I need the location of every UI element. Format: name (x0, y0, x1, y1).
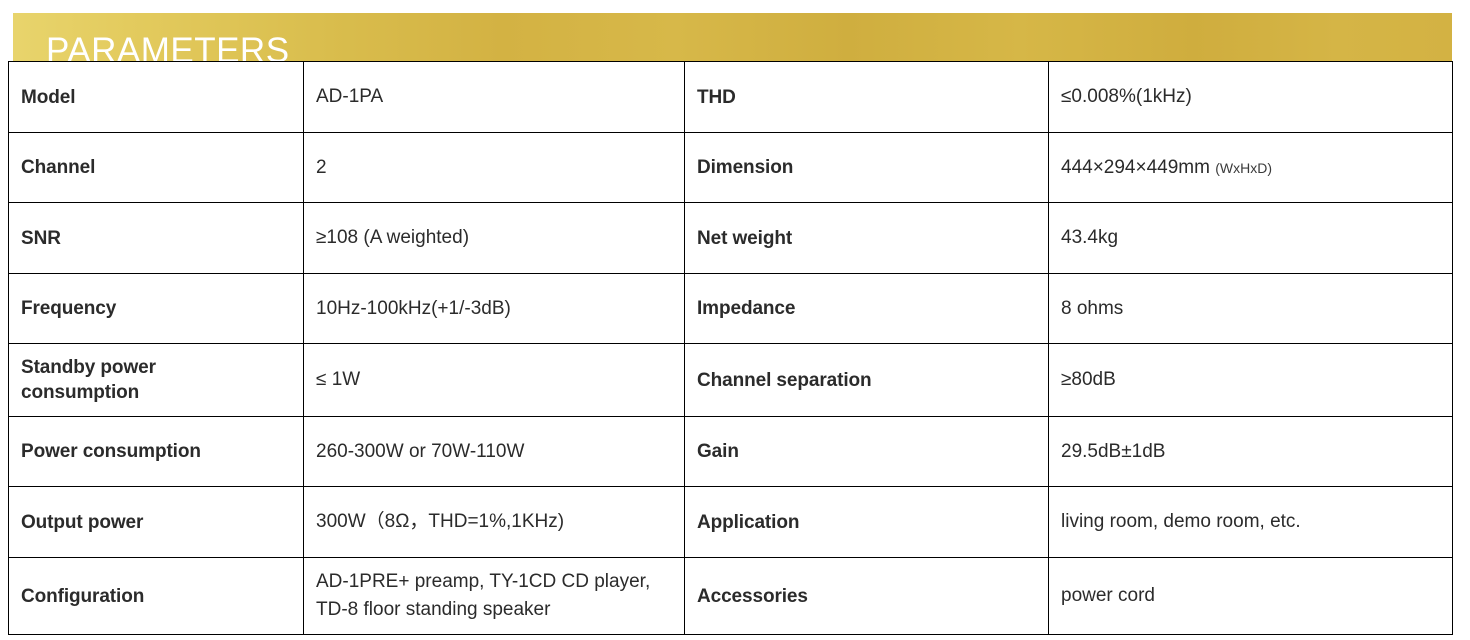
dimension-suffix: (WxHxD) (1215, 160, 1272, 176)
row-label-power-consumption: Power consumption (9, 417, 304, 487)
parameters-page: PARAMETERS Model AD-1PA THD ≤0.008%(1kHz… (0, 0, 1470, 640)
row-value-channel-separation: ≥80dB (1049, 344, 1453, 417)
row-value-dimension: 444×294×449mm (WxHxD) (1049, 133, 1453, 203)
row-value-net-weight: 43.4kg (1049, 203, 1453, 274)
row-label-application: Application (685, 487, 1049, 558)
row-label-configuration: Configuration (9, 558, 304, 635)
table-row: Power consumption 260-300W or 70W-110W G… (9, 417, 1453, 487)
row-label-impedance: Impedance (685, 274, 1049, 344)
row-value-thd: ≤0.008%(1kHz) (1049, 62, 1453, 133)
row-value-application: living room, demo room, etc. (1049, 487, 1453, 558)
row-label-gain: Gain (685, 417, 1049, 487)
row-value-snr: ≥108 (A weighted) (304, 203, 685, 274)
row-label-channel-separation: Channel separation (685, 344, 1049, 417)
row-value-standby-power-consumption: ≤ 1W (304, 344, 685, 417)
row-value-power-consumption: 260-300W or 70W-110W (304, 417, 685, 487)
row-label-net-weight: Net weight (685, 203, 1049, 274)
parameters-banner: PARAMETERS (13, 13, 1452, 61)
table-row: Frequency 10Hz-100kHz(+1/-3dB) Impedance… (9, 274, 1453, 344)
standby-label-line1: Standby power (21, 355, 291, 380)
row-value-model: AD-1PA (304, 62, 685, 133)
table-row: Channel 2 Dimension 444×294×449mm (WxHxD… (9, 133, 1453, 203)
row-value-channel: 2 (304, 133, 685, 203)
row-value-configuration: AD-1PRE+ preamp, TY-1CD CD player,TD-8 f… (304, 558, 685, 635)
row-value-gain: 29.5dB±1dB (1049, 417, 1453, 487)
table-row: Standby powerconsumption ≤ 1W Channel se… (9, 344, 1453, 417)
row-label-accessories: Accessories (685, 558, 1049, 635)
row-label-thd: THD (685, 62, 1049, 133)
table-row: Model AD-1PA THD ≤0.008%(1kHz) (9, 62, 1453, 133)
row-label-output-power: Output power (9, 487, 304, 558)
row-value-frequency: 10Hz-100kHz(+1/-3dB) (304, 274, 685, 344)
row-value-output-power: 300W（8Ω，THD=1%,1KHz) (304, 487, 685, 558)
row-label-snr: SNR (9, 203, 304, 274)
specifications-table: Model AD-1PA THD ≤0.008%(1kHz) Channel 2… (8, 61, 1453, 635)
row-value-impedance: 8 ohms (1049, 274, 1453, 344)
table-row: Output power 300W（8Ω，THD=1%,1KHz) Applic… (9, 487, 1453, 558)
row-label-standby-power-consumption: Standby powerconsumption (9, 344, 304, 417)
row-label-model: Model (9, 62, 304, 133)
row-label-dimension: Dimension (685, 133, 1049, 203)
configuration-line1: AD-1PRE+ preamp, TY-1CD CD player, (316, 568, 672, 596)
row-label-frequency: Frequency (9, 274, 304, 344)
table-row: Configuration AD-1PRE+ preamp, TY-1CD CD… (9, 558, 1453, 635)
standby-label-line2: consumption (21, 380, 291, 405)
dimension-main: 444×294×449mm (1061, 157, 1210, 178)
table-row: SNR ≥108 (A weighted) Net weight 43.4kg (9, 203, 1453, 274)
row-label-channel: Channel (9, 133, 304, 203)
row-value-accessories: power cord (1049, 558, 1453, 635)
configuration-line2: TD-8 floor standing speaker (316, 596, 672, 624)
